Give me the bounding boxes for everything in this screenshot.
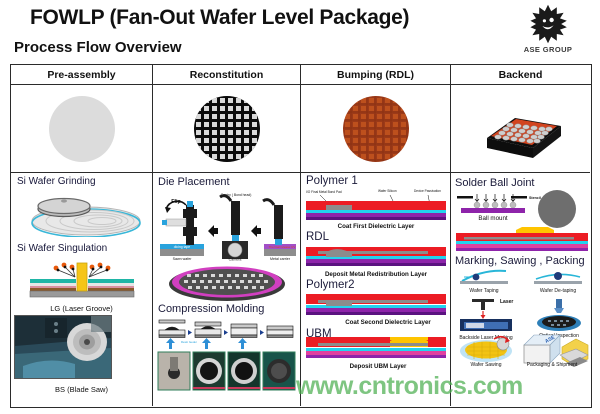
slide-root: FOWLP (Fan-Out Wafer Level Package) Proc… bbox=[0, 0, 600, 414]
backend-tiles-icon: Wafer Taping Wafer De-taping bbox=[454, 267, 590, 367]
sawn-wafer-label: Sawn wafer bbox=[173, 257, 193, 261]
laser-groove-schematic-icon bbox=[18, 255, 146, 303]
ase-sun-logo-icon bbox=[528, 4, 568, 44]
red-bumped-wafer-icon bbox=[342, 95, 410, 163]
polymer2-cross-section-icon: Coat Second Dielectric Layer bbox=[304, 292, 448, 328]
reconstitution-steps-cell: Die Placement dicing tape Sawn wafer bbox=[153, 173, 300, 404]
table-header-row: Pre-assembly Reconstitution Bumping (RDL… bbox=[11, 65, 591, 85]
wafer-sawing-label: Wafer Sawing bbox=[471, 362, 502, 367]
bumping-wafer-cell bbox=[301, 85, 450, 173]
thermal-release-label: Thermal release UV bbox=[269, 245, 296, 249]
polymer1-caption: Coat First Dielectric Layer bbox=[338, 223, 415, 230]
die-placement-diagram-icon: dicing tape Sawn wafer Flip bbox=[156, 189, 298, 261]
preassembly-wafer-cell bbox=[11, 85, 152, 173]
ball-mount-schematic-icon: Stencil Ball mount bbox=[455, 189, 587, 231]
backend-steps-cell: Solder Ball Joint Stencil bbox=[451, 173, 590, 404]
wafer-grinding-illustration-icon bbox=[14, 187, 148, 237]
preassembly-steps-cell: Si Wafer Grinding bbox=[11, 173, 152, 404]
bumping-steps-cell: Polymer 1 I/O Final Metal Bond Pad Wafer… bbox=[301, 173, 450, 404]
column-backend: Solder Ball Joint Stencil bbox=[451, 85, 590, 406]
wafer-taping-label: Wafer Taping bbox=[469, 288, 498, 294]
rdl-caption: Deposit Metal Redistribution Layer bbox=[325, 271, 428, 278]
die-placement-title: Die Placement bbox=[158, 176, 297, 188]
si-wafer-grinding-label: Si Wafer Grinding bbox=[17, 176, 149, 187]
backend-package-cell bbox=[451, 85, 590, 173]
stencil-label: Stencil bbox=[529, 196, 541, 200]
wafer-detaping-label: Wafer De-taping bbox=[540, 288, 576, 294]
reconstitution-wafer-cell bbox=[153, 85, 300, 173]
column-preassembly: Si Wafer Grinding bbox=[11, 85, 153, 406]
io-pad-callout: I/O Final Metal Bond Pad bbox=[306, 190, 342, 194]
column-header-preassembly: Pre-assembly bbox=[11, 65, 153, 84]
dicing-tape-label: dicing tape bbox=[174, 245, 191, 249]
polymer2-caption: Coat Second Dielectric Layer bbox=[345, 319, 431, 326]
solder-ball-joint-title: Solder Ball Joint bbox=[455, 177, 587, 189]
column-header-bumping: Bumping (RDL) bbox=[301, 65, 451, 84]
polymer1-cross-section-icon: I/O Final Metal Bond Pad Wafer Silicon D… bbox=[304, 187, 448, 231]
bga-package-3d-icon bbox=[475, 98, 567, 160]
solder-joint-cross-section-icon bbox=[454, 227, 590, 253]
ase-logo-text: ASE GROUP bbox=[508, 45, 588, 54]
ubm-cross-section-icon: Deposit UBM Layer bbox=[304, 333, 448, 371]
compression-molding-photos-icon bbox=[156, 351, 298, 391]
camera-label: Camera bbox=[229, 258, 242, 262]
marking-sawing-packing-title: Marking, Sawing , Packing bbox=[455, 255, 587, 267]
ubm-caption: Deposit UBM Layer bbox=[350, 363, 407, 370]
packaging-shipment-label: Packaging & Shipment bbox=[527, 362, 578, 367]
resin-feeder-label: Resin feeder bbox=[181, 340, 197, 344]
wafer-silicon-callout: Wafer Silicon bbox=[378, 189, 397, 193]
plain-grey-wafer-icon bbox=[49, 96, 115, 162]
slide-header: FOWLP (Fan-Out Wafer Level Package) Proc… bbox=[0, 0, 600, 62]
device-passivation-callout: Device Passivation bbox=[414, 189, 441, 193]
ase-logo: ASE GROUP bbox=[508, 4, 588, 60]
page-title: FOWLP (Fan-Out Wafer Level Package) bbox=[30, 6, 409, 30]
metal-carrier-label: Metal carrier bbox=[270, 257, 291, 261]
blade-saw-photo-icon bbox=[14, 315, 112, 379]
flip-label: Flip bbox=[171, 199, 181, 205]
compression-molding-schematic-icon: Resin feeder bbox=[157, 316, 297, 350]
si-wafer-singulation-label: Si Wafer Singulation bbox=[17, 243, 149, 254]
laser-label: Laser bbox=[500, 299, 513, 305]
table-body-row: Si Wafer Grinding bbox=[11, 85, 591, 406]
rdl-cross-section-icon: Deposit Metal Redistribution Layer bbox=[304, 243, 448, 279]
black-wafer-with-dies-icon bbox=[193, 95, 261, 163]
column-bumping: Polymer 1 I/O Final Metal Bond Pad Wafer… bbox=[301, 85, 451, 406]
process-flow-table: Pre-assembly Reconstitution Bumping (RDL… bbox=[10, 64, 592, 408]
column-reconstitution: Die Placement dicing tape Sawn wafer bbox=[153, 85, 301, 406]
ball-mount-label: Ball mount bbox=[478, 215, 508, 222]
blade-saw-caption: BS (Blade Saw) bbox=[14, 385, 149, 394]
laser-groove-caption: LG (Laser Groove) bbox=[14, 304, 149, 313]
column-header-reconstitution: Reconstitution bbox=[153, 65, 301, 84]
page-subtitle: Process Flow Overview bbox=[14, 39, 182, 56]
molded-reconstituted-wafer-icon bbox=[165, 262, 289, 302]
column-header-backend: Backend bbox=[451, 65, 590, 84]
compression-molding-title: Compression Molding bbox=[158, 303, 297, 315]
